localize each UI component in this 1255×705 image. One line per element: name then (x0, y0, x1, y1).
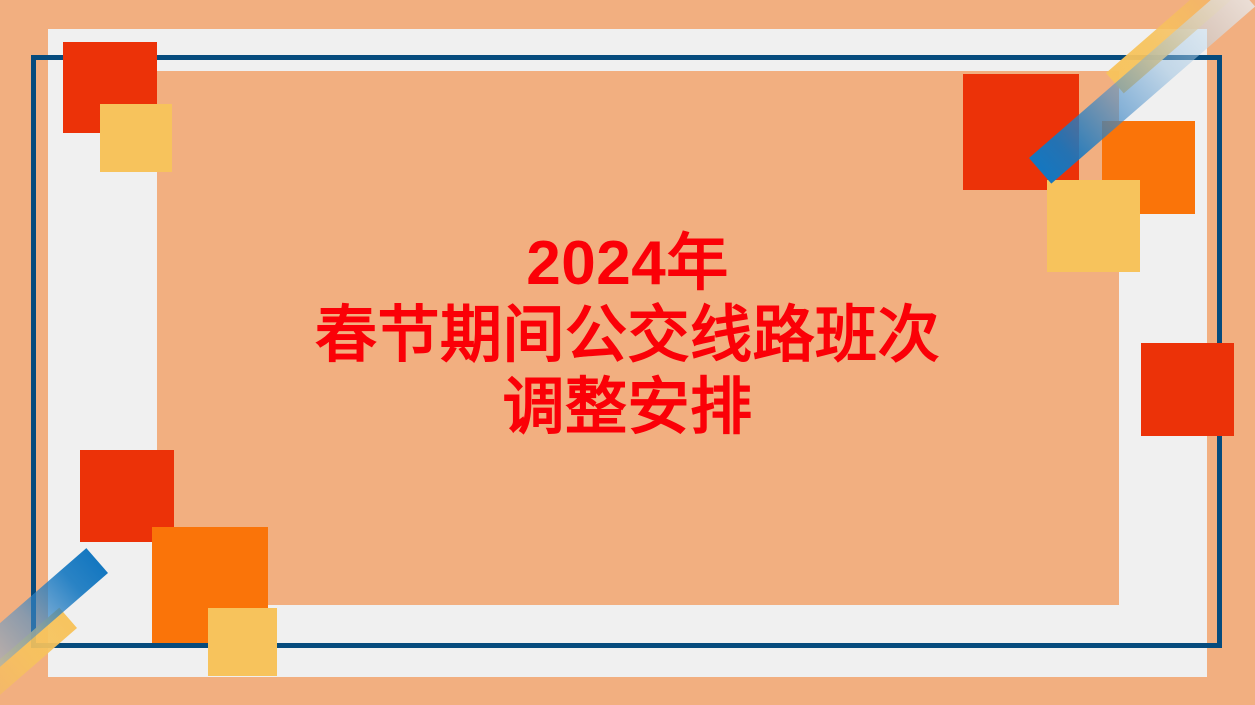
slide-title-line-3: 调整安排 (0, 372, 1255, 444)
slide-title-line-2: 春节期间公交线路班次 (0, 300, 1255, 372)
presentation-slide: 2024年 春节期间公交线路班次 调整安排 (0, 0, 1255, 705)
slide-title-line-1: 2024年 (0, 228, 1255, 300)
decor-square-bottom-left-yellow (208, 608, 277, 676)
slide-title: 2024年 春节期间公交线路班次 调整安排 (0, 228, 1255, 444)
decor-square-top-left-yellow (100, 104, 172, 172)
